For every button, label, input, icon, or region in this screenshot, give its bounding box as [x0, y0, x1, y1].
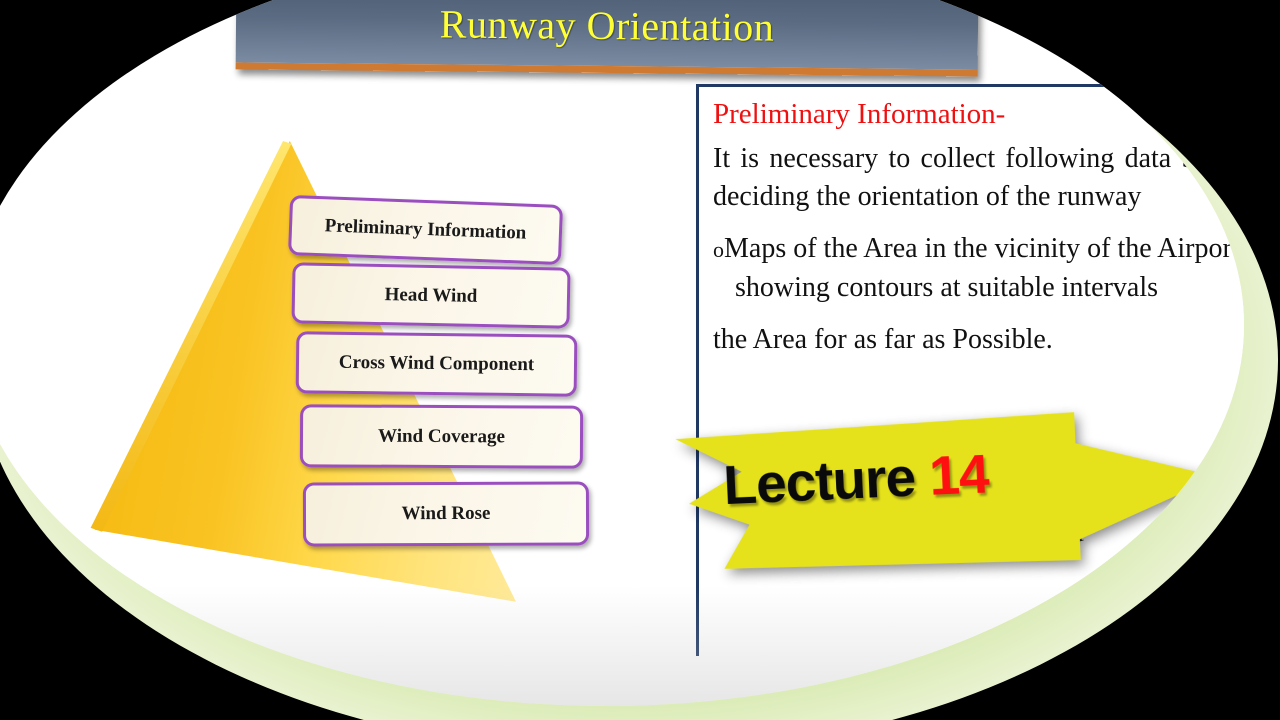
pyramid-item-preliminary-information[interactable]: Preliminary Information	[288, 195, 563, 265]
page-title: Runway Orientation	[440, 0, 775, 50]
panel-bullet-item: oMaps of the Area in the vicinity of the…	[713, 230, 1244, 306]
pyramid-item-label: Preliminary Information	[324, 215, 526, 244]
pyramid-item-wind-coverage[interactable]: Wind Coverage	[300, 404, 583, 468]
panel-heading: Preliminary Information-	[713, 99, 1244, 130]
slide-content: Runway Orientation Preliminary Informati…	[0, 0, 1244, 686]
lecture-word: Lecture	[722, 446, 916, 517]
pyramid-item-cross-wind-component[interactable]: Cross Wind Component	[296, 331, 578, 396]
pyramid-item-label: Wind Rose	[402, 503, 491, 525]
pyramid-item-label: Head Wind	[384, 284, 477, 308]
oval-frame-inner: Runway Orientation Preliminary Informati…	[0, 0, 1244, 706]
slide-canvas: Runway Orientation Preliminary Informati…	[0, 0, 1280, 720]
bullet-marker: o	[713, 237, 724, 262]
pyramid-item-wind-rose[interactable]: Wind Rose	[303, 482, 589, 547]
pyramid-diagram: Preliminary Information Head Wind Cross …	[74, 141, 594, 621]
bullet-text: Maps of the Area in the vicinity of the …	[724, 233, 1240, 302]
lecture-banner-label: Lecture 14	[722, 446, 989, 513]
bullet-text: the Area for as far as Possible.	[713, 324, 1053, 355]
panel-bullet-item-tail: the Area for as far as Possible.	[713, 321, 1244, 359]
oval-frame-border: Runway Orientation Preliminary Informati…	[0, 0, 1278, 720]
pyramid-item-label: Cross Wind Component	[339, 352, 535, 376]
pyramid-item-label: Wind Coverage	[378, 425, 505, 448]
lecture-banner: Lecture 14	[675, 406, 1221, 578]
lecture-number: 14	[928, 442, 990, 507]
pyramid-item-head-wind[interactable]: Head Wind	[291, 262, 570, 328]
title-banner: Runway Orientation	[236, 0, 979, 77]
panel-paragraph: It is necessary to collect following dat…	[713, 140, 1244, 216]
